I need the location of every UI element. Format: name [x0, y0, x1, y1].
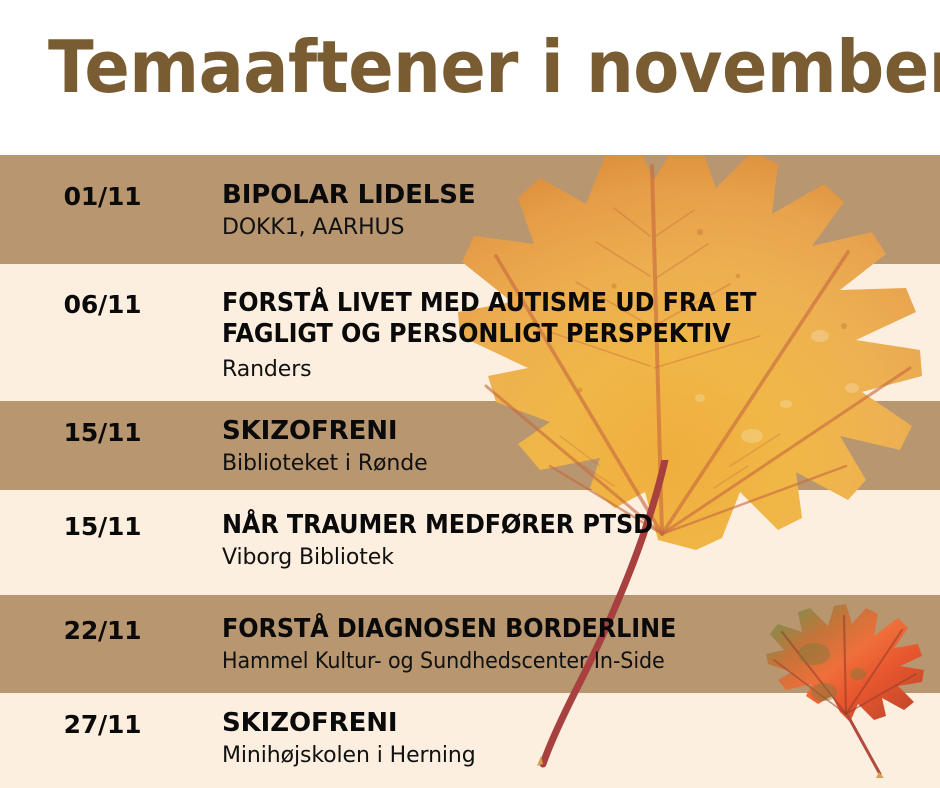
event-title: BIPOLAR LIDELSE [222, 180, 940, 211]
event-date: 27/11 [0, 710, 205, 739]
event-title: SKIZOFRENI [222, 708, 940, 739]
event-venue: Randers [222, 356, 940, 384]
event-title: SKIZOFRENI [222, 416, 940, 447]
event-title: NÅR TRAUMER MEDFØRER PTSD [222, 510, 883, 541]
event-title: FORSTÅ LIVET MED AUTISME UD FRA ET FAGLI… [222, 288, 883, 350]
event-title-line: BIPOLAR LIDELSE [222, 180, 940, 211]
event-date: 06/11 [0, 290, 205, 319]
event-details: SKIZOFRENI Minihøjskolen i Herning [222, 708, 940, 770]
event-title-line: SKIZOFRENI [222, 708, 940, 739]
event-row[interactable]: 22/11 FORSTÅ DIAGNOSEN BORDERLINE Hammel… [0, 595, 940, 693]
event-date: 01/11 [0, 182, 205, 211]
event-title-line: FORSTÅ LIVET MED AUTISME UD FRA ET [222, 288, 883, 319]
event-venue: Viborg Bibliotek [222, 544, 940, 572]
event-details: NÅR TRAUMER MEDFØRER PTSD Viborg Bibliot… [222, 510, 940, 572]
event-details: FORSTÅ DIAGNOSEN BORDERLINE Hammel Kultu… [222, 614, 940, 676]
event-row[interactable]: 27/11 SKIZOFRENI Minihøjskolen i Herning [0, 693, 940, 788]
event-title-line: FAGLIGT OG PERSONLIGT PERSPEKTIV [222, 319, 883, 350]
event-date: 15/11 [0, 512, 205, 541]
event-title-line: NÅR TRAUMER MEDFØRER PTSD [222, 510, 883, 541]
event-title-line: SKIZOFRENI [222, 416, 940, 447]
event-details: FORSTÅ LIVET MED AUTISME UD FRA ET FAGLI… [222, 288, 940, 384]
event-venue: Biblioteket i Rønde [222, 450, 940, 478]
page-title: Temaaftener i november [48, 24, 940, 110]
event-row[interactable]: 15/11 SKIZOFRENI Biblioteket i Rønde [0, 401, 940, 490]
event-date: 22/11 [0, 616, 205, 645]
event-title: FORSTÅ DIAGNOSEN BORDERLINE [222, 614, 883, 645]
event-venue: DOKK1, AARHUS [222, 214, 940, 242]
event-date: 15/11 [0, 418, 205, 447]
event-poster: Temaaftener i november 01/11 BIPOLAR LID… [0, 0, 940, 788]
event-venue: Hammel Kultur- og Sundhedscenter In-Side [222, 648, 897, 676]
poster-header: Temaaftener i november [0, 0, 940, 155]
event-details: BIPOLAR LIDELSE DOKK1, AARHUS [222, 180, 940, 242]
event-venue: Minihøjskolen i Herning [222, 742, 940, 770]
event-row[interactable]: 01/11 BIPOLAR LIDELSE DOKK1, AARHUS [0, 155, 940, 264]
event-row[interactable]: 06/11 FORSTÅ LIVET MED AUTISME UD FRA ET… [0, 264, 940, 401]
event-row[interactable]: 15/11 NÅR TRAUMER MEDFØRER PTSD Viborg B… [0, 490, 940, 595]
event-details: SKIZOFRENI Biblioteket i Rønde [222, 416, 940, 478]
event-title-line: FORSTÅ DIAGNOSEN BORDERLINE [222, 614, 883, 645]
